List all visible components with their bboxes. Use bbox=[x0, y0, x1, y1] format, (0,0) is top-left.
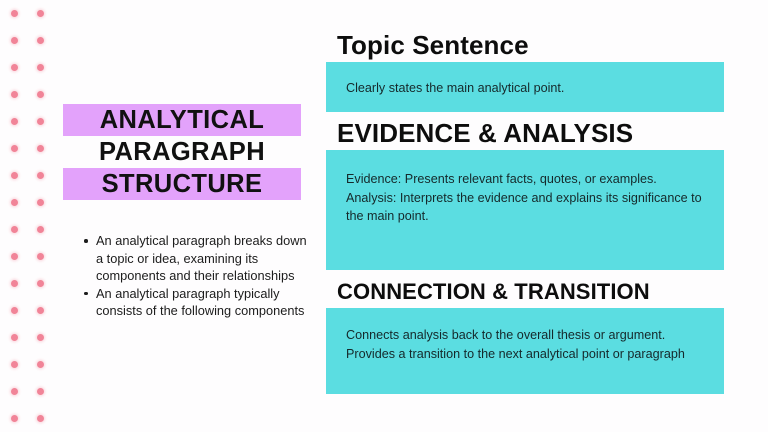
decorative-dot bbox=[37, 145, 44, 152]
decorative-dot bbox=[37, 37, 44, 44]
section-body-text: Clearly states the main analytical point… bbox=[346, 79, 706, 98]
decorative-dot bbox=[37, 64, 44, 71]
decorative-dot bbox=[37, 280, 44, 287]
decorative-dot bbox=[11, 253, 18, 260]
decorative-dot bbox=[11, 145, 18, 152]
page-title-line-2: PARAGRAPH bbox=[63, 136, 301, 168]
page-title-line-1: ANALYTICAL bbox=[63, 104, 301, 136]
intro-bullet-list: An analytical paragraph breaks down a to… bbox=[77, 232, 312, 320]
section-heading-connection-transition: CONNECTION & TRANSITION bbox=[326, 276, 724, 308]
decorative-dot bbox=[11, 415, 18, 422]
decorative-dot bbox=[37, 172, 44, 179]
decorative-dot bbox=[37, 361, 44, 368]
decorative-dot bbox=[11, 280, 18, 287]
decorative-dot bbox=[11, 10, 18, 17]
decorative-dot bbox=[37, 334, 44, 341]
decorative-dot bbox=[11, 361, 18, 368]
section-connection-transition: CONNECTION & TRANSITION Connects analysi… bbox=[326, 276, 724, 394]
section-body-text: Evidence: Presents relevant facts, quote… bbox=[346, 170, 706, 226]
slide-canvas: ANALYTICAL PARAGRAPH STRUCTURE An analyt… bbox=[0, 0, 768, 432]
decorative-dot bbox=[37, 307, 44, 314]
decorative-dot bbox=[11, 307, 18, 314]
section-heading-topic-sentence: Topic Sentence bbox=[326, 28, 724, 62]
right-column: Topic Sentence Clearly states the main a… bbox=[326, 0, 724, 432]
decorative-dot bbox=[11, 64, 18, 71]
decorative-dot bbox=[11, 199, 18, 206]
decorative-dot bbox=[37, 226, 44, 233]
section-body-topic-sentence: Clearly states the main analytical point… bbox=[326, 62, 724, 112]
decorative-dot bbox=[11, 172, 18, 179]
decorative-dot bbox=[37, 253, 44, 260]
section-topic-sentence: Topic Sentence Clearly states the main a… bbox=[326, 28, 724, 112]
page-title: ANALYTICAL PARAGRAPH STRUCTURE bbox=[63, 104, 301, 200]
decorative-dot bbox=[37, 415, 44, 422]
decorative-dot bbox=[37, 91, 44, 98]
decorative-dot bbox=[11, 388, 18, 395]
decorative-dot bbox=[11, 91, 18, 98]
section-evidence-analysis: EVIDENCE & ANALYSIS Evidence: Presents r… bbox=[326, 116, 724, 270]
decorative-dot bbox=[37, 118, 44, 125]
decorative-dot bbox=[37, 10, 44, 17]
list-item: An analytical paragraph breaks down a to… bbox=[96, 232, 312, 285]
page-title-line-3: STRUCTURE bbox=[63, 168, 301, 200]
decorative-dot bbox=[11, 37, 18, 44]
decorative-dot bbox=[11, 334, 18, 341]
section-heading-evidence-analysis: EVIDENCE & ANALYSIS bbox=[326, 116, 724, 150]
section-body-evidence-analysis: Evidence: Presents relevant facts, quote… bbox=[326, 150, 724, 270]
decorative-dot bbox=[11, 226, 18, 233]
pink-dot-grid bbox=[0, 0, 62, 432]
decorative-dot bbox=[37, 199, 44, 206]
left-column: ANALYTICAL PARAGRAPH STRUCTURE An analyt… bbox=[63, 104, 301, 200]
decorative-dot bbox=[11, 118, 18, 125]
decorative-dot bbox=[37, 388, 44, 395]
list-item: An analytical paragraph typically consis… bbox=[96, 285, 312, 320]
section-body-text: Connects analysis back to the overall th… bbox=[346, 326, 706, 363]
section-body-connection-transition: Connects analysis back to the overall th… bbox=[326, 308, 724, 394]
